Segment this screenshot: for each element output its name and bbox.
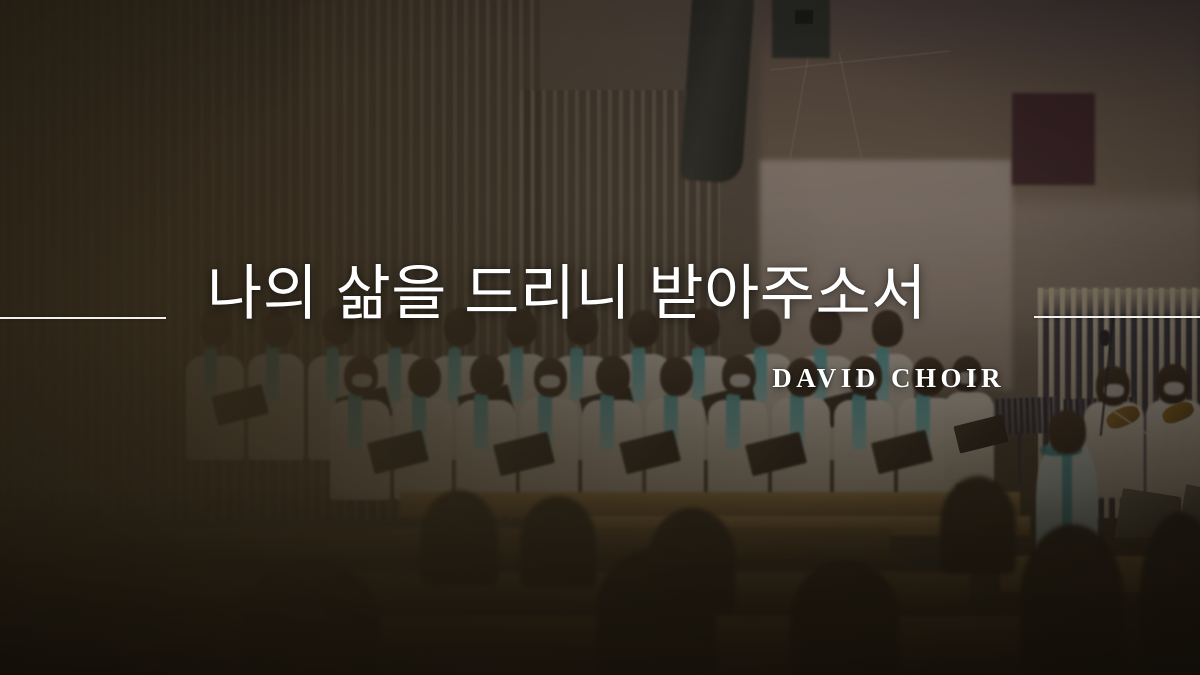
page-title: 나의 삶을 드리니 받아주소서	[207, 264, 1017, 324]
right-decorative-rule	[1034, 316, 1200, 318]
subtitle: DAVID CHOIR	[600, 363, 1005, 394]
title-overlay: 나의 삶을 드리니 받아주소서 DAVID CHOIR	[0, 0, 1200, 675]
left-decorative-rule	[0, 317, 166, 319]
title-card: 나의 삶을 드리니 받아주소서 DAVID CHOIR	[0, 0, 1200, 675]
